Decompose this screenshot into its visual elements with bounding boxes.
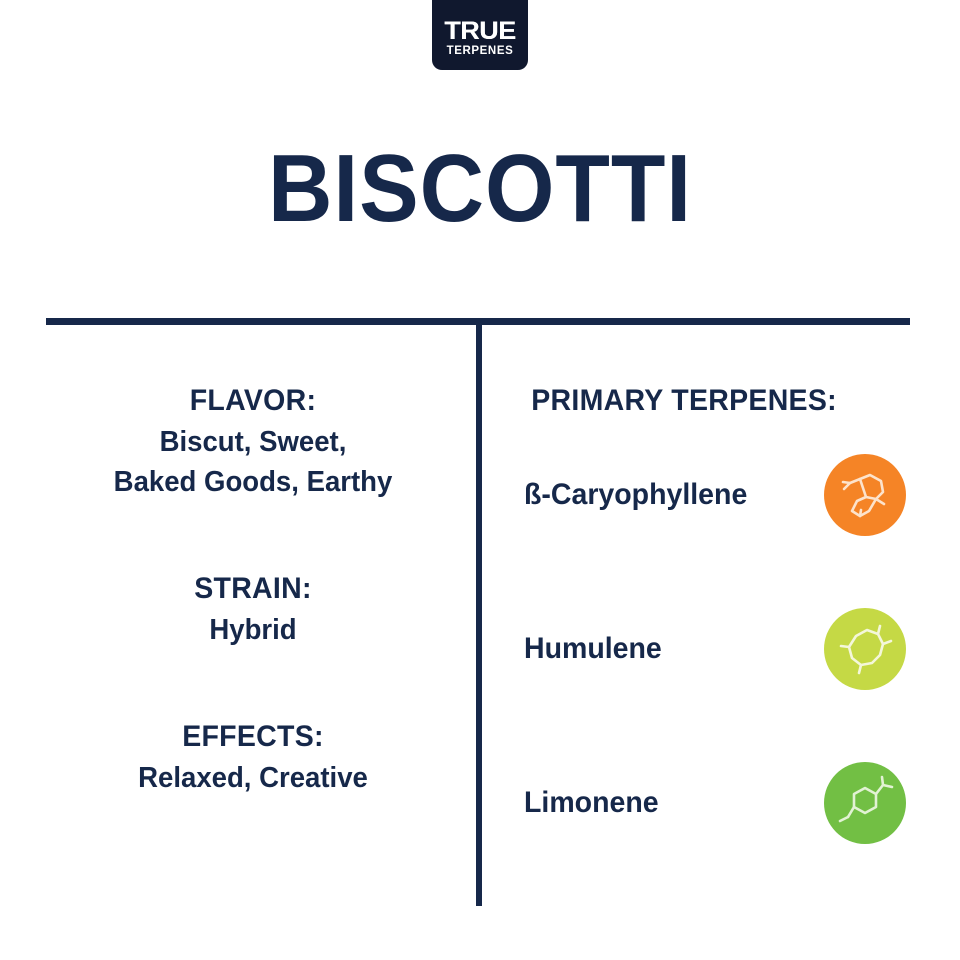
humulene-molecule-icon	[836, 620, 894, 678]
flavor-label: FLAVOR:	[41, 380, 465, 422]
flavor-value: Biscut, Sweet, Baked Goods, Earthy	[41, 422, 465, 502]
effects-value: Relaxed, Creative	[41, 758, 465, 798]
limonene-molecule-icon	[836, 774, 894, 832]
terpene-list: ß-Caryophyllene	[482, 444, 930, 854]
list-item: Humulene	[482, 598, 930, 700]
terpene-name: Limonene	[524, 785, 659, 821]
terpene-name: ß-Caryophyllene	[524, 477, 747, 513]
strain-info-card: TRUE TERPENES BISCOTTI FLAVOR: Biscut, S…	[0, 0, 960, 960]
primary-terpenes-label: PRIMARY TERPENES:	[493, 380, 919, 422]
terpene-name: Humulene	[524, 631, 662, 667]
strain-field: STRAIN: Hybrid	[30, 568, 476, 650]
brand-logo-primary-text: TRUE	[444, 19, 515, 43]
flavor-strain-spacer	[30, 502, 476, 568]
terpene-icon-caryophyllene	[824, 454, 906, 536]
brand-logo-badge: TRUE TERPENES	[432, 0, 528, 70]
brand-logo-secondary-text: TERPENES	[447, 44, 514, 58]
effects-label: EFFECTS:	[41, 716, 465, 758]
caryophyllene-molecule-icon	[836, 466, 894, 524]
flavor-value-line-1: Biscut, Sweet,	[41, 422, 465, 462]
terpenes-column: PRIMARY TERPENES: ß-Caryophyllene	[482, 380, 930, 906]
flavor-value-line-2: Baked Goods, Earthy	[41, 462, 465, 502]
list-item: Limonene	[482, 752, 930, 854]
terpene-icon-humulene	[824, 608, 906, 690]
list-item: ß-Caryophyllene	[482, 444, 930, 546]
terpene-icon-limonene	[824, 762, 906, 844]
strain-label: STRAIN:	[41, 568, 465, 610]
effects-field: EFFECTS: Relaxed, Creative	[30, 716, 476, 798]
strain-effects-spacer	[30, 650, 476, 716]
page-title: BISCOTTI	[34, 139, 927, 239]
strain-value: Hybrid	[41, 610, 465, 650]
attributes-column: FLAVOR: Biscut, Sweet, Baked Goods, Eart…	[30, 380, 476, 798]
flavor-field: FLAVOR: Biscut, Sweet, Baked Goods, Eart…	[30, 380, 476, 502]
